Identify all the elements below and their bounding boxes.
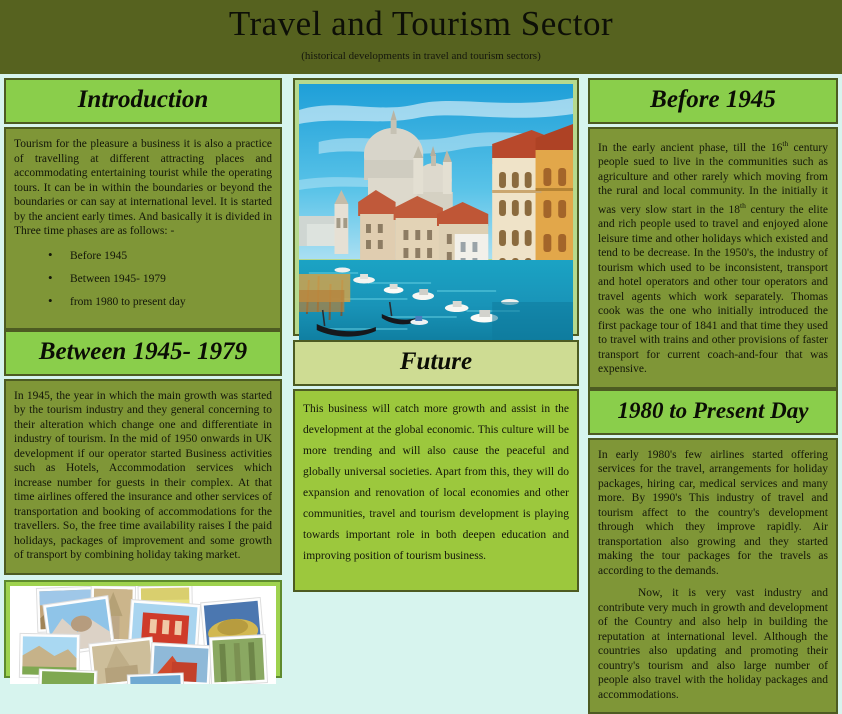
present-day-heading-text: 1980 to Present Day	[617, 398, 808, 423]
poster-columns: Introduction Tourism for the pleasure a …	[0, 74, 842, 596]
travel-photo-collage-icon	[10, 586, 276, 684]
present-day-paragraph-1: In early 1980's few airlines started off…	[598, 448, 828, 579]
venice-photo-frame	[293, 78, 579, 336]
future-body: This business will catch more growth and…	[293, 389, 579, 592]
between-heading-text: Between 1945- 1979	[39, 338, 247, 365]
introduction-paragraph: Tourism for the pleasure a business it i…	[14, 137, 272, 239]
introduction-bullet-list: Before 1945 Between 1945- 1979 from 1980…	[14, 249, 272, 309]
section-heading-before-1945: Before 1945	[588, 78, 838, 124]
before-1945-text-part1: In the early ancient phase, till the 16	[598, 142, 782, 154]
column-left: Introduction Tourism for the pleasure a …	[0, 74, 288, 596]
page-title: Travel and Tourism Sector	[0, 2, 842, 46]
introduction-heading-text: Introduction	[78, 86, 209, 113]
column-right: Before 1945 In the early ancient phase, …	[584, 74, 842, 596]
section-heading-1980-to-present-day: 1980 to Present Day	[588, 389, 838, 435]
before-1945-text-part3: century the elite and rich people used t…	[598, 204, 828, 376]
present-day-paragraph-2: Now, it is very vast industry and contri…	[598, 586, 828, 702]
future-paragraph: This business will catch more growth and…	[303, 399, 569, 567]
before-1945-heading-text: Before 1945	[650, 86, 776, 113]
page-subtitle: (historical developments in travel and t…	[0, 49, 842, 63]
poster-page: Travel and Tourism Sector (historical de…	[0, 0, 842, 596]
column-middle: Future This business will catch more gro…	[288, 74, 584, 596]
between-body: In 1945, the year in which the main grow…	[4, 379, 282, 575]
before-1945-paragraph: In the early ancient phase, till the 16t…	[598, 137, 828, 377]
poster-header-banner: Travel and Tourism Sector (historical de…	[0, 0, 842, 74]
section-heading-future: Future	[293, 340, 579, 386]
present-day-body: In early 1980's few airlines started off…	[588, 438, 838, 714]
future-heading-text: Future	[400, 348, 472, 375]
before-1945-body: In the early ancient phase, till the 16t…	[588, 127, 838, 389]
collage-photo-frame	[4, 580, 282, 678]
between-paragraph: In 1945, the year in which the main grow…	[14, 389, 272, 563]
introduction-body: Tourism for the pleasure a business it i…	[4, 127, 282, 330]
list-item: Before 1945	[48, 249, 272, 263]
list-item: from 1980 to present day	[48, 295, 272, 309]
section-heading-introduction: Introduction	[4, 78, 282, 124]
section-heading-between-1945-1979: Between 1945- 1979	[4, 330, 282, 376]
venice-grand-canal-icon	[299, 84, 573, 342]
list-item: Between 1945- 1979	[48, 272, 272, 286]
